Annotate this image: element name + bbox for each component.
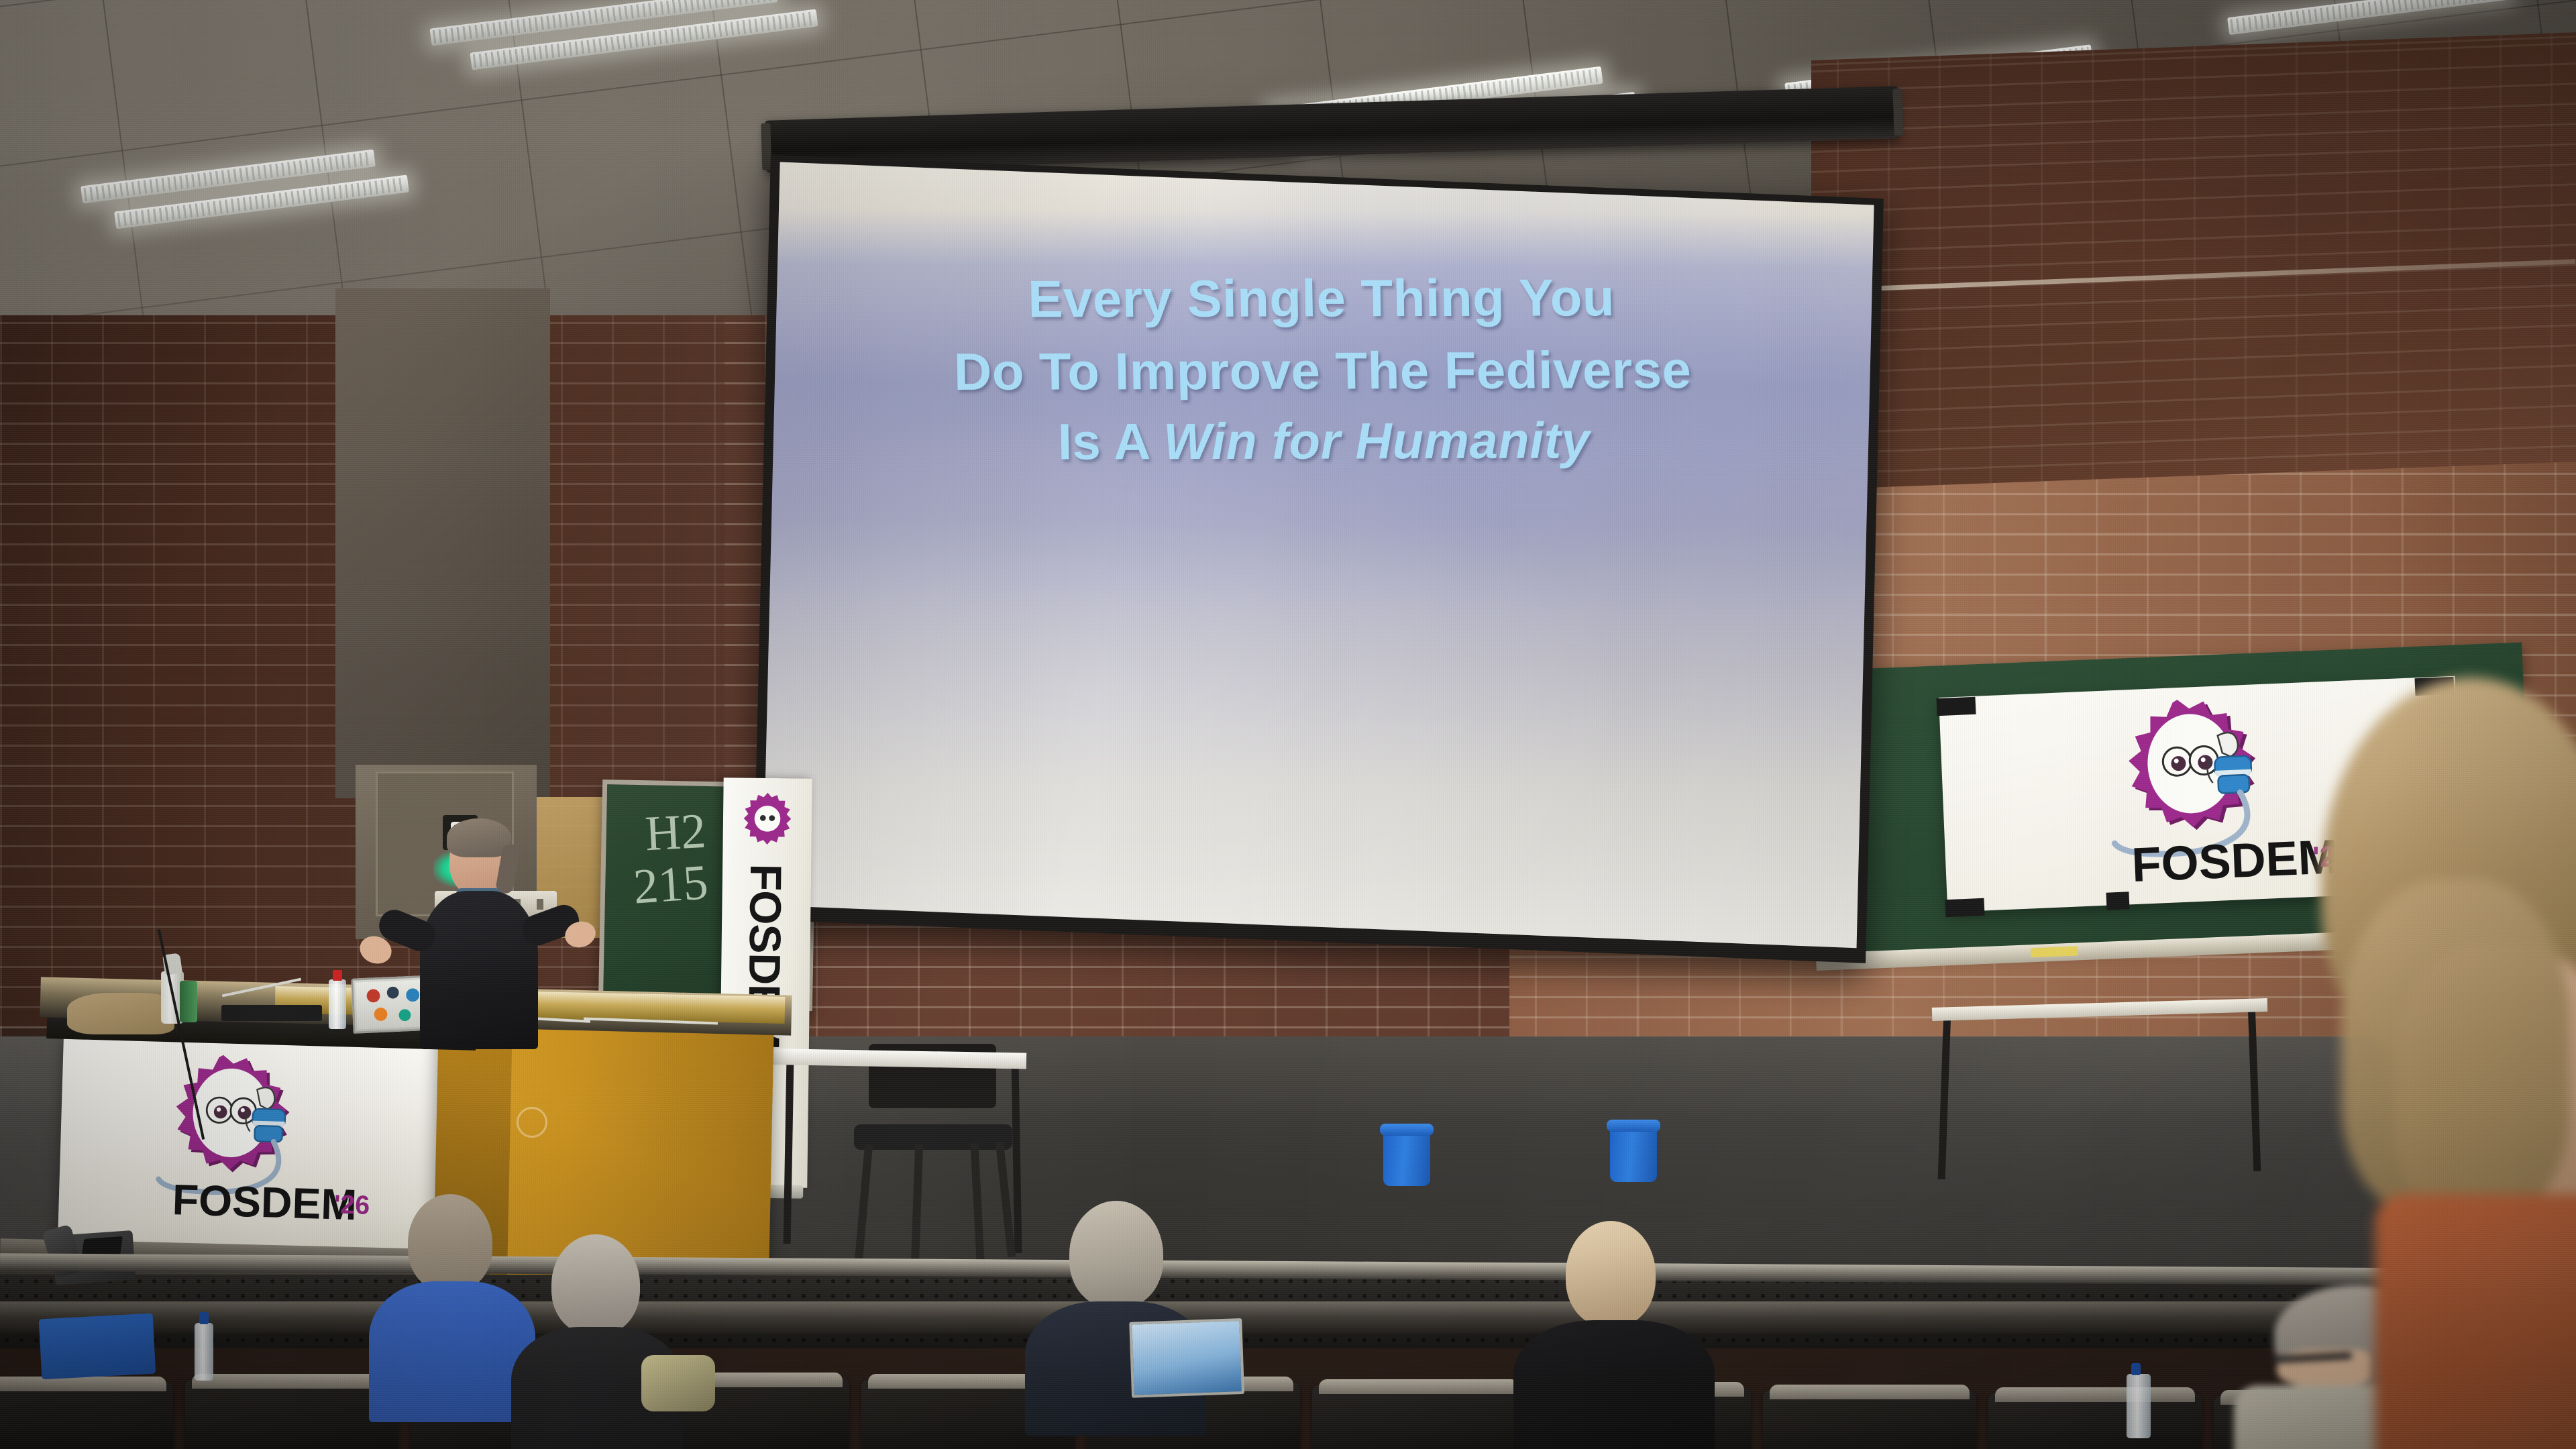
seat[interactable]	[0, 1383, 173, 1449]
water-bottle	[2127, 1374, 2151, 1438]
wall-alcove	[335, 288, 550, 798]
head	[1566, 1221, 1656, 1327]
screen-frame: Every Single Thing You Do To Improve The…	[753, 155, 1884, 963]
chair-leg	[996, 1142, 1016, 1257]
audience-member-foreground-blonde	[2301, 678, 2576, 1449]
chair-leg	[911, 1144, 923, 1265]
slide-line-3: Is A Win for Humanity	[776, 406, 1872, 479]
chair-leg	[970, 1143, 984, 1263]
tape-strip	[1936, 697, 1976, 716]
power-strip	[221, 1005, 322, 1021]
laptop-screen	[1129, 1318, 1244, 1398]
slide-text-block: Every Single Thing You Do To Improve The…	[773, 261, 1872, 479]
seat[interactable]	[1763, 1391, 1976, 1449]
green-bottle	[180, 981, 197, 1022]
slide-line-1: Every Single Thing You	[773, 261, 1869, 336]
audience-member-grey-hair	[496, 1234, 698, 1436]
audience-member-bald-hoodie	[1509, 1221, 1731, 1436]
speaker-presenting	[356, 824, 597, 1045]
fosdem-logo: FOSDEM '26	[98, 1038, 386, 1248]
blue-tablet-case	[39, 1313, 156, 1380]
lecture-hall-photo: Every Single Thing You Do To Improve The…	[0, 0, 2576, 1449]
projection-screen: Every Single Thing You Do To Improve The…	[751, 124, 1925, 1023]
head	[1069, 1201, 1163, 1308]
scarf	[641, 1355, 715, 1411]
seat[interactable]	[1988, 1393, 2202, 1449]
slide-line-2: Do To Improve The Fediverse	[775, 333, 1870, 409]
screen-surface: Every Single Thing You Do To Improve The…	[763, 162, 1874, 949]
cloth-bag	[67, 993, 174, 1034]
water-bottle	[329, 979, 346, 1029]
seat[interactable]	[1312, 1385, 1525, 1449]
chair-leg	[854, 1144, 873, 1269]
chair-seat	[854, 1124, 1012, 1150]
speaker-jacket	[420, 891, 538, 1049]
head	[551, 1234, 640, 1335]
svg-text:FOSDEM: FOSDEM	[172, 1175, 358, 1229]
lectern-emblem	[517, 1107, 547, 1138]
torso-black-hoodie	[1513, 1320, 1715, 1449]
chalk-room-line-1: H2	[644, 803, 708, 863]
blue-waste-bin	[1383, 1130, 1430, 1186]
black-stacking-chair	[842, 1044, 1023, 1265]
tape-strip	[2106, 892, 2129, 910]
blue-waste-bin	[1610, 1126, 1657, 1182]
slide-line-3-plain: Is A	[1057, 413, 1164, 470]
chalk-room-line-2: 215	[632, 854, 710, 916]
head	[408, 1194, 492, 1292]
water-bottle	[195, 1323, 213, 1381]
slide-line-3-italic: Win for Humanity	[1163, 413, 1591, 471]
upper-right-wall-band	[1811, 32, 2576, 490]
tape-strip	[1945, 898, 1984, 917]
open-laptop	[1129, 1318, 1239, 1393]
